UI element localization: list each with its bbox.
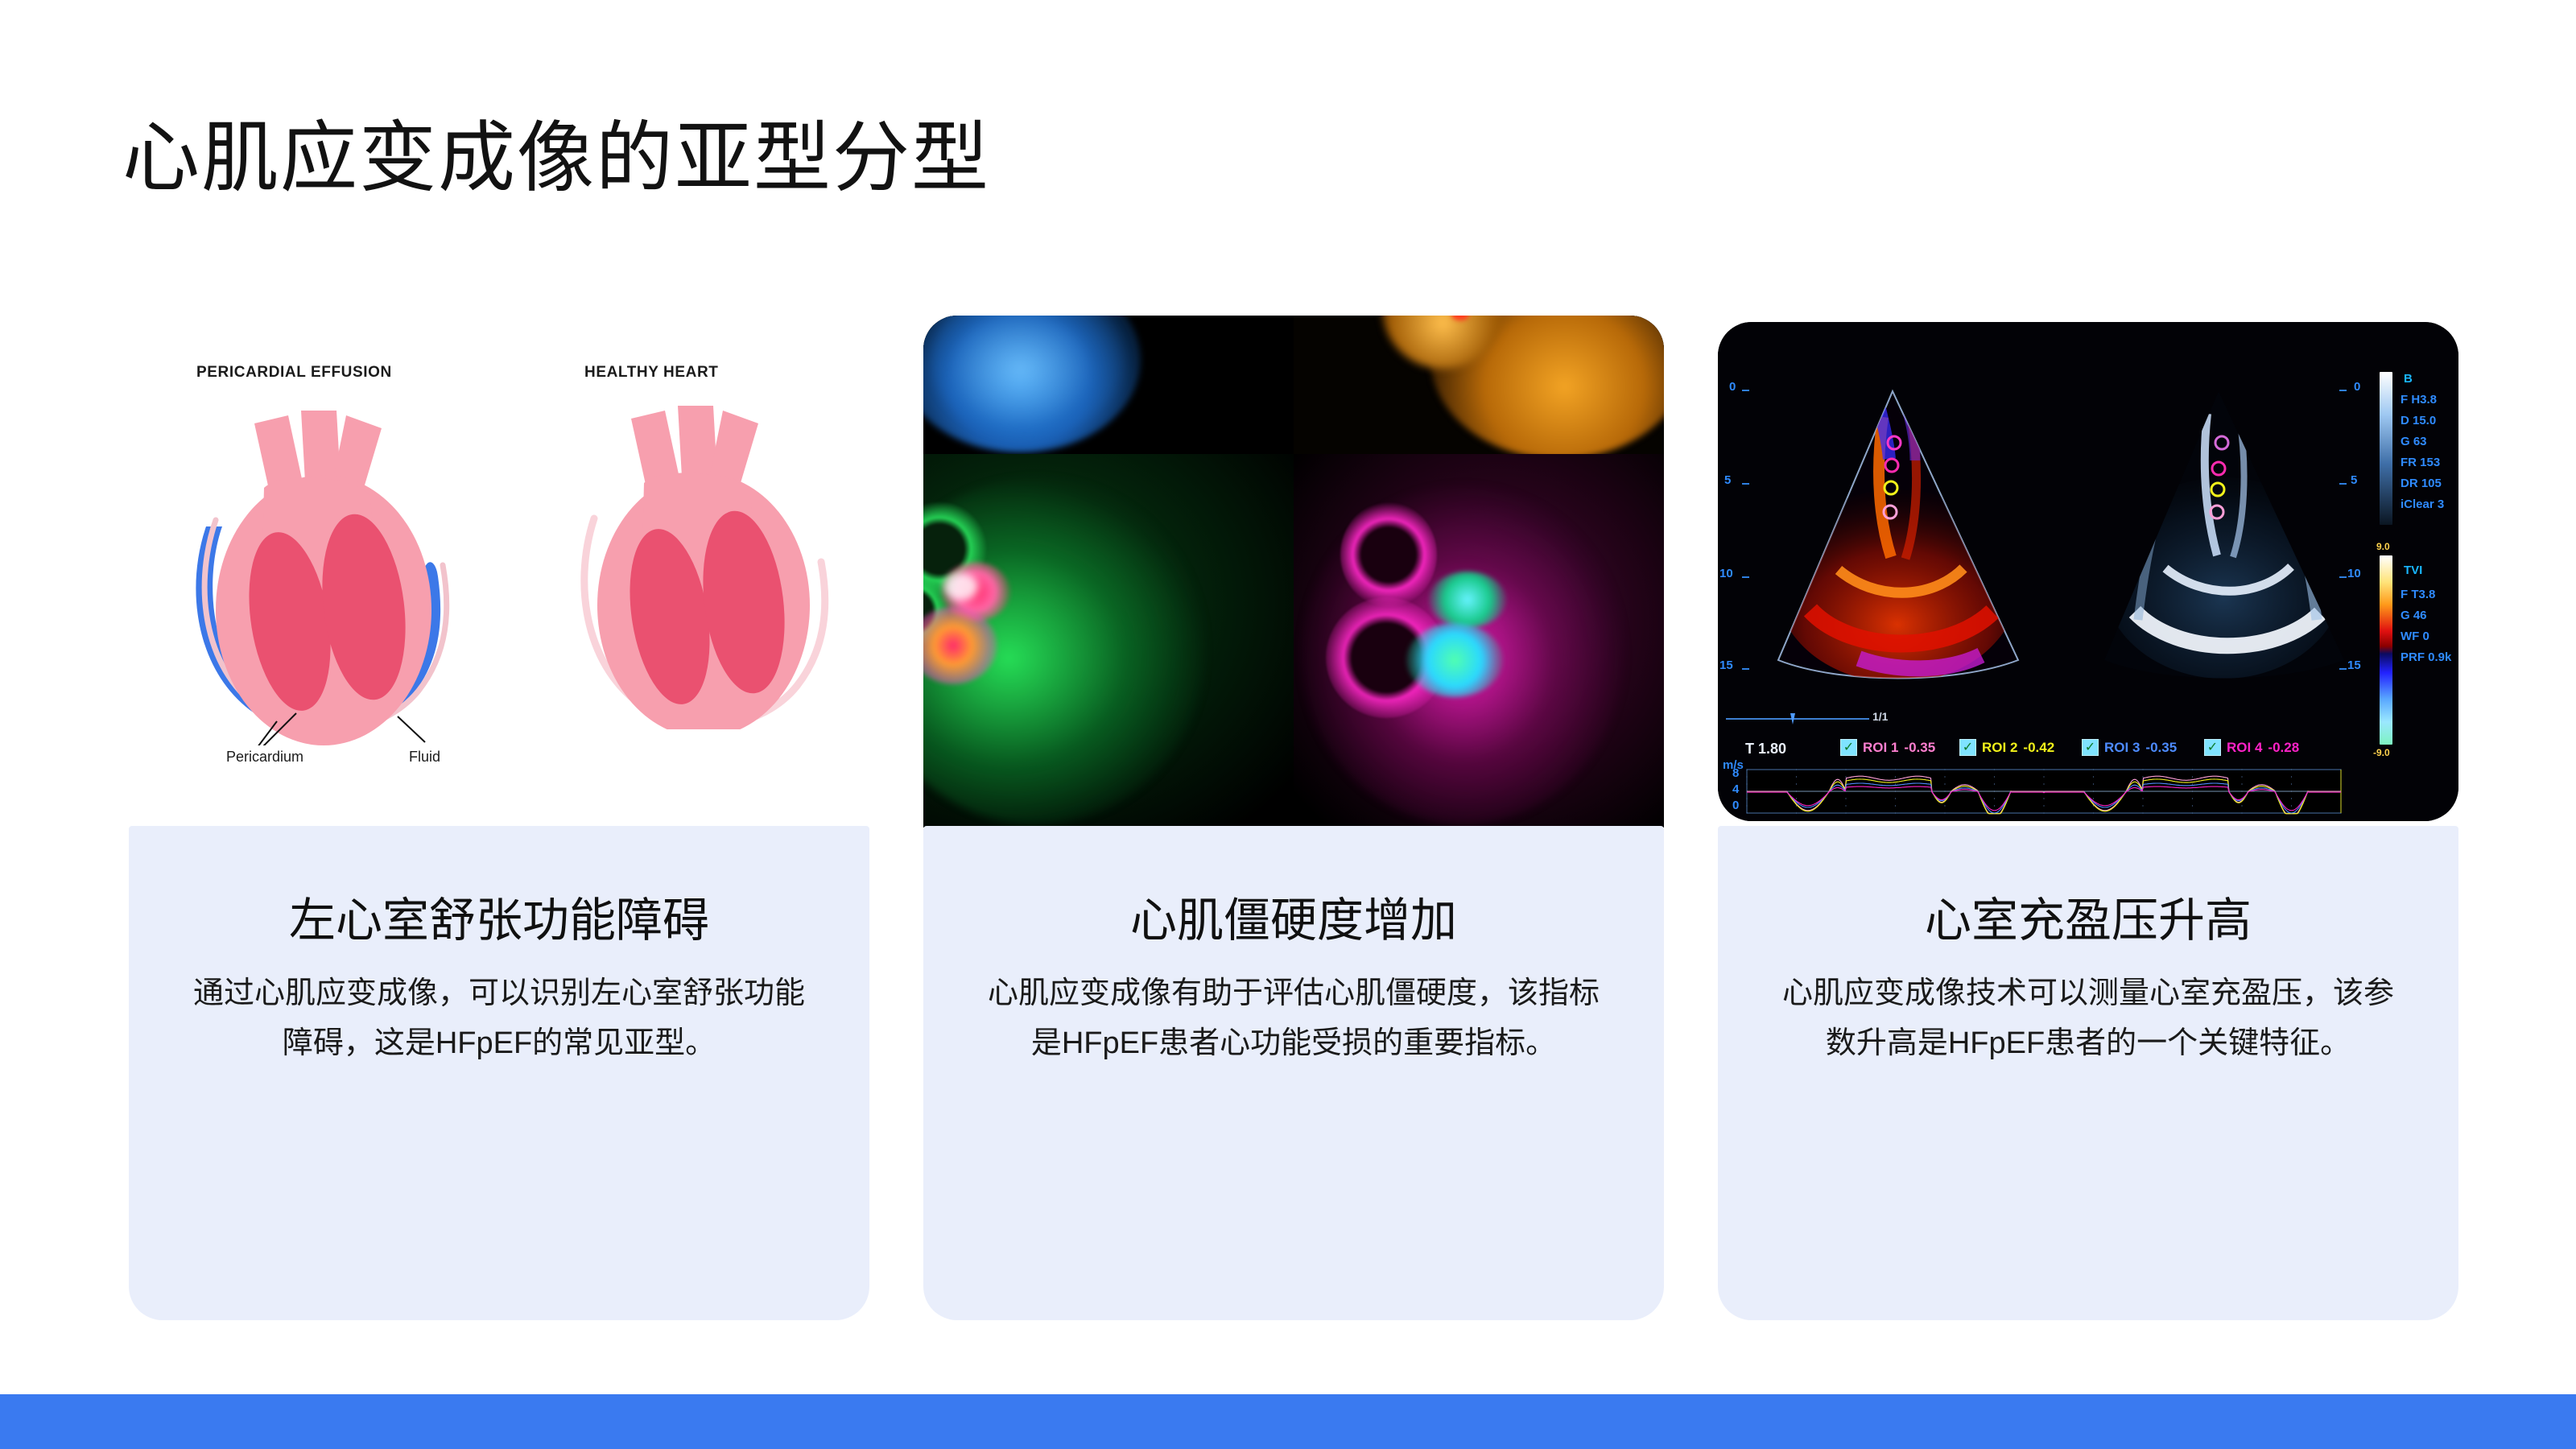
card-body-3: 心肌应变成像技术可以测量心室充盈压，该参数升高是HFpEF患者的一个关键特征。	[1781, 969, 2396, 1068]
card-myocardial-stiffness[interactable]: 心肌僵硬度增加 心肌应变成像有助于评估心肌僵硬度，该指标是HFpEF患者心功能受…	[923, 826, 1664, 1320]
card-body-2: 心肌应变成像有助于评估心肌僵硬度，该指标是HFpEF患者心功能受损的重要指标。	[986, 969, 1601, 1068]
card-body-1: 通过心肌应变成像，可以识别左心室舒张功能障碍，这是HFpEF的常见亚型。	[192, 969, 807, 1068]
card-title-2: 心肌僵硬度增加	[923, 882, 1664, 950]
card-filling-pressure[interactable]: 心室充盈压升高 心肌应变成像技术可以测量心室充盈压，该参数升高是HFpEF患者的…	[1718, 826, 2458, 1320]
card-title-1: 左心室舒张功能障碍	[129, 882, 869, 950]
card-title-3: 心室充盈压升高	[1718, 882, 2458, 950]
card-lv-diastolic-dysfunction[interactable]: 左心室舒张功能障碍 通过心肌应变成像，可以识别左心室舒张功能障碍，这是HFpEF…	[129, 826, 869, 1320]
bottom-accent-bar	[0, 1394, 2576, 1449]
card-grid: 左心室舒张功能障碍 通过心肌应变成像，可以识别左心室舒张功能障碍，这是HFpEF…	[0, 0, 2576, 1449]
